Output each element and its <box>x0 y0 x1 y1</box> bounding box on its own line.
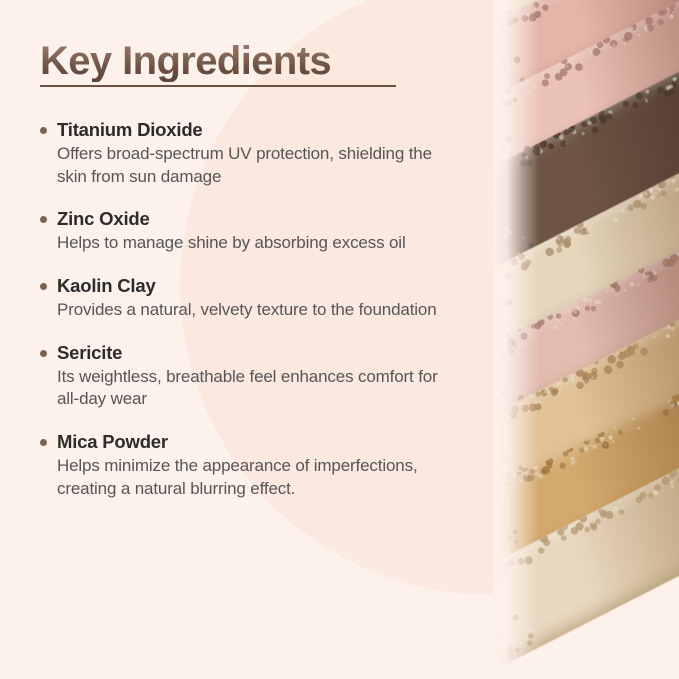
swatch-left-fade <box>493 0 539 679</box>
ingredient-item: Titanium DioxideOffers broad-spectrum UV… <box>40 118 450 188</box>
ingredient-description: Provides a natural, velvety texture to t… <box>57 299 447 322</box>
ingredient-name: Mica Powder <box>57 430 450 454</box>
bullet-dot-icon <box>40 350 47 357</box>
ingredient-name: Sericite <box>57 341 450 365</box>
ingredient-description: Offers broad-spectrum UV protection, shi… <box>57 143 447 188</box>
ingredient-name: Kaolin Clay <box>57 274 450 298</box>
ingredient-item: SericiteIts weightless, breathable feel … <box>40 341 450 411</box>
ingredient-item: Kaolin ClayProvides a natural, velvety t… <box>40 274 450 322</box>
ingredient-item: Mica PowderHelps minimize the appearance… <box>40 430 450 500</box>
bullet-dot-icon <box>40 127 47 134</box>
powder-swatch-image <box>493 0 679 679</box>
ingredients-list: Titanium DioxideOffers broad-spectrum UV… <box>40 118 450 500</box>
ingredient-description: Helps to manage shine by absorbing exces… <box>57 232 447 255</box>
ingredient-name: Titanium Dioxide <box>57 118 450 142</box>
page-title: Key Ingredients <box>40 40 331 82</box>
bullet-dot-icon <box>40 439 47 446</box>
bullet-dot-icon <box>40 216 47 223</box>
ingredient-description: Helps minimize the appearance of imperfe… <box>57 455 447 500</box>
ingredient-description: Its weightless, breathable feel enhances… <box>57 366 447 411</box>
title-underline <box>40 85 396 87</box>
ingredient-name: Zinc Oxide <box>57 207 450 231</box>
key-ingredients-panel: Key Ingredients Titanium DioxideOffers b… <box>0 0 679 679</box>
content-column: Key Ingredients Titanium DioxideOffers b… <box>0 0 470 679</box>
title-block: Key Ingredients <box>40 40 440 87</box>
bullet-dot-icon <box>40 283 47 290</box>
ingredient-item: Zinc OxideHelps to manage shine by absor… <box>40 207 450 255</box>
